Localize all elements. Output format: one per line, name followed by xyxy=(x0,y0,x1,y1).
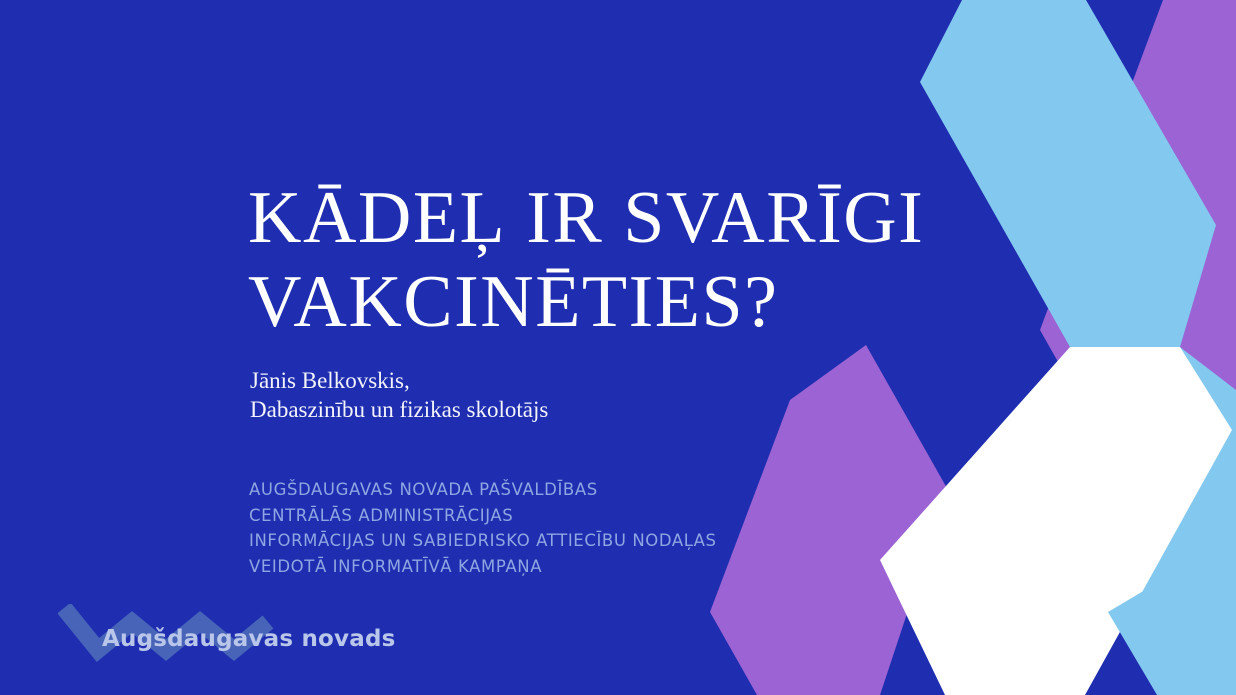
caption-line-1: AUGŠDAUGAVAS NOVADA PAŠVALDĪBAS xyxy=(249,477,869,503)
caption-line-3: INFORMĀCIJAS UN SABIEDRISKO ATTIECĪBU NO… xyxy=(249,528,869,554)
title-line-2: VAKCINĒTIES? xyxy=(248,260,988,344)
presenter-role: Dabaszinību un fizikas skolotājs xyxy=(250,395,850,424)
organization-logo-text: Augšdaugavas novads xyxy=(102,626,396,652)
page-title: KĀDEĻ IR SVARĪGI VAKCINĒTIES? xyxy=(248,176,988,344)
presenter-info: Jānis Belkovskis, Dabaszinību un fizikas… xyxy=(250,366,850,424)
organization-logo: Augšdaugavas novads xyxy=(58,604,398,666)
slide-content: KĀDEĻ IR SVARĪGI VAKCINĒTIES? Jānis Belk… xyxy=(0,0,1236,695)
presentation-slide: KĀDEĻ IR SVARĪGI VAKCINĒTIES? Jānis Belk… xyxy=(0,0,1236,695)
title-line-1: KĀDEĻ IR SVARĪGI xyxy=(248,176,988,260)
caption-line-2: CENTRĀLĀS ADMINISTRĀCIJAS xyxy=(249,503,869,529)
presenter-name: Jānis Belkovskis, xyxy=(250,366,850,395)
caption-line-4: VEIDOTĀ INFORMATĪVĀ KAMPAŅA xyxy=(249,554,869,580)
campaign-credit: AUGŠDAUGAVAS NOVADA PAŠVALDĪBAS CENTRĀLĀ… xyxy=(249,477,869,579)
